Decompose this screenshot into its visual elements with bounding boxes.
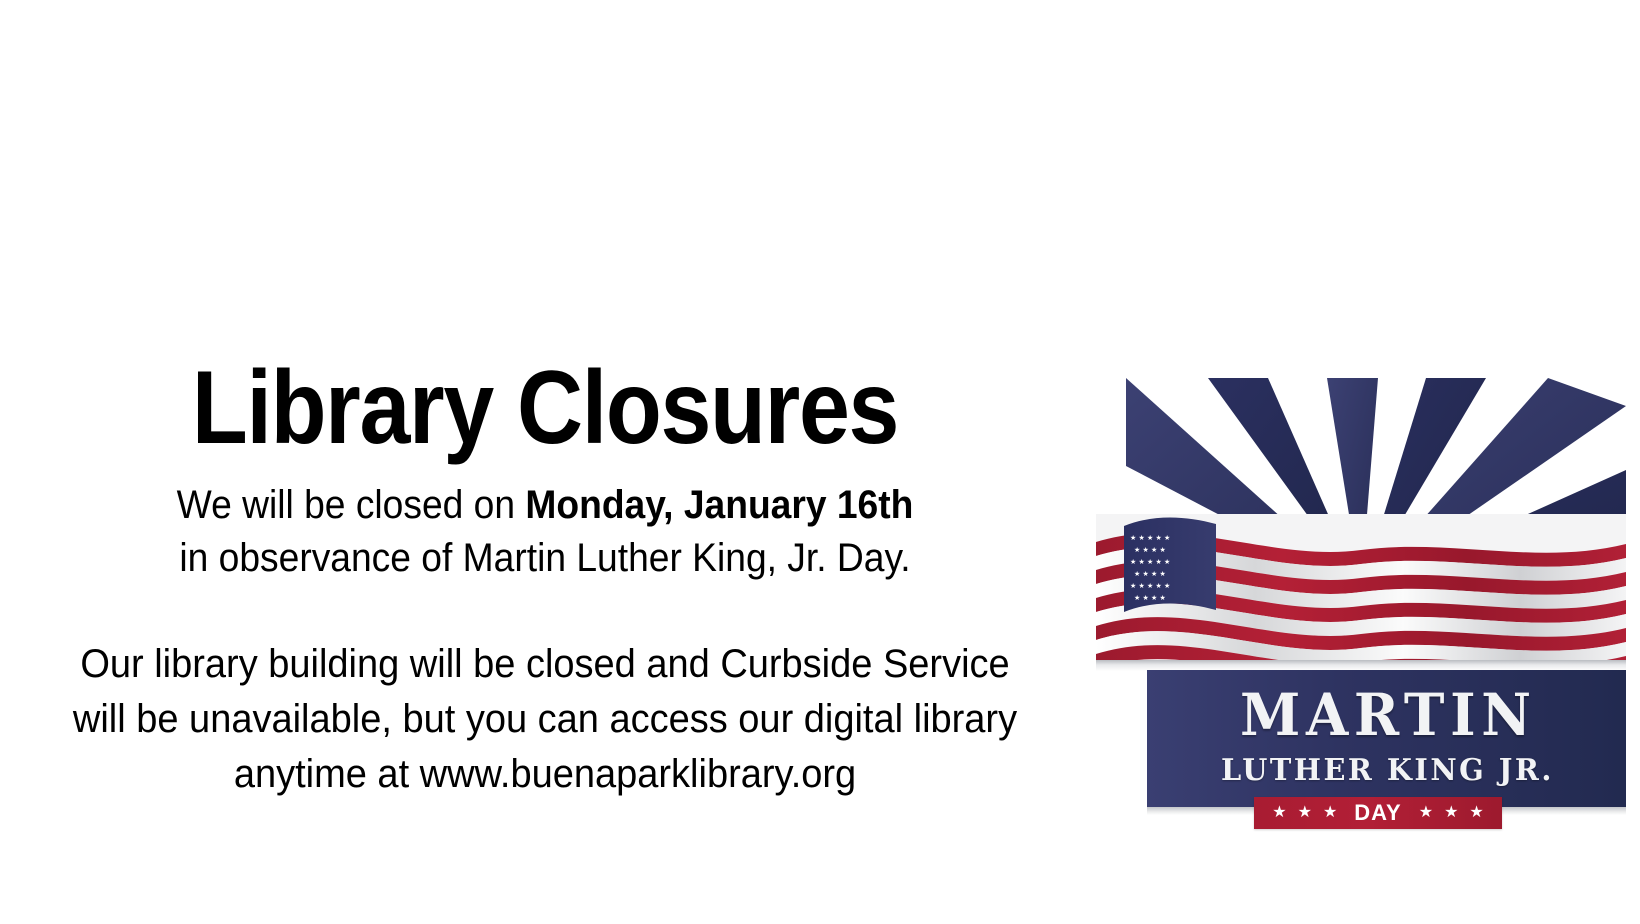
closure-details-line-2: will be unavailable, but you can access …	[27, 692, 1063, 747]
svg-text:★ ★ ★ ★: ★ ★ ★ ★	[1134, 594, 1166, 602]
announcement-text-block: Library Closures We will be closed on Mo…	[0, 355, 1090, 802]
closure-notice-line-2: in observance of Martin Luther King, Jr.…	[38, 532, 1052, 585]
svg-text:★ ★ ★ ★: ★ ★ ★ ★	[1134, 570, 1166, 578]
svg-text:★ ★ ★ ★ ★: ★ ★ ★ ★ ★	[1130, 582, 1170, 590]
ribbon-stars-left: ★ ★ ★	[1259, 805, 1350, 821]
sunburst-and-flag-artwork: ★ ★ ★ ★ ★ ★ ★ ★ ★ ★ ★ ★ ★ ★ ★ ★ ★ ★ ★ ★ …	[1096, 374, 1626, 666]
flag-canton: ★ ★ ★ ★ ★ ★ ★ ★ ★ ★ ★ ★ ★ ★ ★ ★ ★ ★ ★ ★ …	[1124, 518, 1216, 613]
star-icon: ★	[1444, 805, 1458, 821]
star-icon: ★	[1419, 805, 1433, 821]
closure-details: Our library building will be closed and …	[27, 637, 1063, 801]
star-icon: ★	[1298, 805, 1312, 821]
closure-notice-prefix: We will be closed on	[177, 483, 526, 527]
ribbon-stars-right: ★ ★ ★	[1406, 805, 1497, 821]
star-icon: ★	[1469, 805, 1483, 821]
svg-text:★ ★ ★ ★ ★: ★ ★ ★ ★ ★	[1130, 534, 1170, 542]
mlk-day-graphic: ★ ★ ★ ★ ★ ★ ★ ★ ★ ★ ★ ★ ★ ★ ★ ★ ★ ★ ★ ★ …	[1096, 374, 1626, 824]
closure-details-line-3: anytime at www.buenaparklibrary.org	[27, 747, 1063, 802]
star-icon: ★	[1323, 805, 1337, 821]
slide-canvas: Library Closures We will be closed on Mo…	[0, 0, 1640, 924]
mlk-title-martin: MARTIN	[1161, 686, 1611, 744]
mlk-day-ribbon: ★ ★ ★ DAY ★ ★ ★	[1254, 797, 1502, 829]
page-title: Library Closures	[65, 355, 1024, 461]
closure-notice: We will be closed on Monday, January 16t…	[38, 479, 1052, 585]
mlk-title-luther-king-jr: LUTHER KING JR.	[1157, 756, 1617, 786]
ribbon-day-label: DAY	[1350, 802, 1405, 824]
closure-details-line-1: Our library building will be closed and …	[27, 637, 1063, 692]
star-icon: ★	[1272, 805, 1286, 821]
svg-text:★ ★ ★ ★: ★ ★ ★ ★	[1134, 546, 1166, 554]
mlk-name-panel: MARTIN LUTHER KING JR.	[1147, 670, 1626, 810]
svg-text:★ ★ ★ ★ ★: ★ ★ ★ ★ ★	[1130, 558, 1170, 566]
closure-date: Monday, January 16th	[525, 483, 913, 527]
closure-notice-line-1: We will be closed on Monday, January 16t…	[38, 479, 1052, 532]
